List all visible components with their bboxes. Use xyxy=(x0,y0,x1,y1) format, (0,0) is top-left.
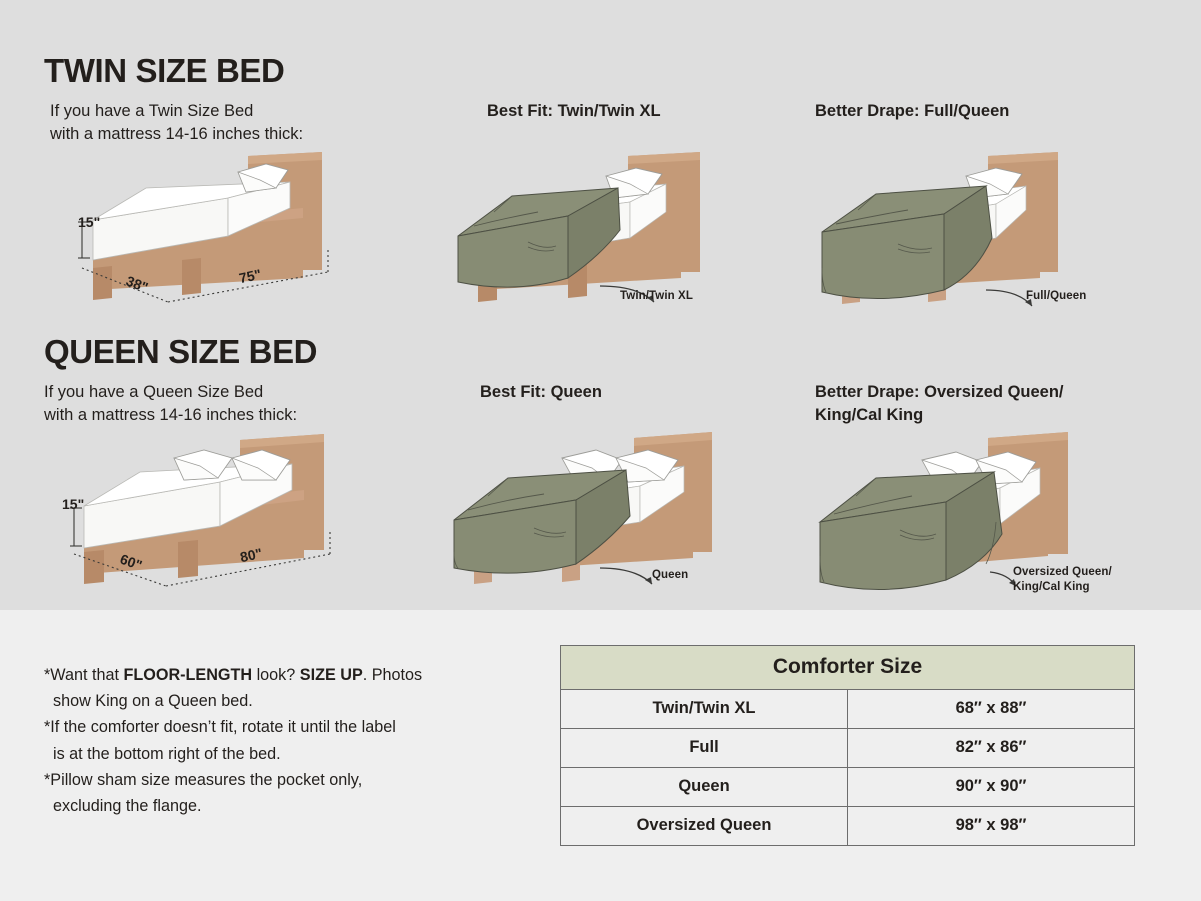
infographic-page: TWIN SIZE BED If you have a Twin Size Be… xyxy=(0,0,1201,901)
bed-illustration-queen-plain xyxy=(48,432,348,592)
footnote-line: *Want that FLOOR-LENGTH look? SIZE UP. P… xyxy=(44,662,544,688)
table-cell-size-name: Oversized Queen xyxy=(561,807,848,846)
section-subtitle-twin: If you have a Twin Size Bed with a mattr… xyxy=(50,100,303,147)
dimension-label-twin-height: 15" xyxy=(78,214,100,230)
footnote-line: is at the bottom right of the bed. xyxy=(44,741,544,767)
footnote-line: *If the comforter doesn’t fit, rotate it… xyxy=(44,714,544,740)
callout-queen-better-drape: Oversized Queen/ King/Cal King xyxy=(1013,565,1112,595)
section-title-twin: TWIN SIZE BED xyxy=(44,52,284,90)
section-title-queen: QUEEN SIZE BED xyxy=(44,333,317,371)
table-cell-size-name: Twin/Twin XL xyxy=(561,690,848,729)
dimension-label-queen-height: 15" xyxy=(62,496,84,512)
footnote-line: excluding the flange. xyxy=(44,793,544,819)
bed-illustration-twin-best-fit xyxy=(450,150,740,310)
bed-illustration-queen-best-fit xyxy=(450,430,750,595)
table-row: Oversized Queen98″ x 98″ xyxy=(561,807,1135,846)
table-row: Queen90″ x 90″ xyxy=(561,768,1135,807)
column-title-queen-better-drape: Better Drape: Oversized Queen/ King/Cal … xyxy=(815,381,1064,428)
comforter-size-table: Comforter Size Twin/Twin XL68″ x 88″Full… xyxy=(560,645,1135,846)
footnote-line: show King on a Queen bed. xyxy=(44,688,544,714)
footnote-line: *Pillow sham size measures the pocket on… xyxy=(44,767,544,793)
table-body: Twin/Twin XL68″ x 88″Full82″ x 86″Queen9… xyxy=(561,690,1135,846)
table-cell-dimensions: 68″ x 88″ xyxy=(848,690,1135,729)
callout-twin-best-fit: Twin/Twin XL xyxy=(620,289,693,304)
table-header-title: Comforter Size xyxy=(561,646,1135,690)
table-row: Twin/Twin XL68″ x 88″ xyxy=(561,690,1135,729)
section-subtitle-queen: If you have a Queen Size Bed with a matt… xyxy=(44,381,297,428)
callout-twin-better-drape: Full/Queen xyxy=(1026,289,1086,304)
table-cell-dimensions: 82″ x 86″ xyxy=(848,729,1135,768)
table-header-row: Comforter Size xyxy=(561,646,1135,690)
table-row: Full82″ x 86″ xyxy=(561,729,1135,768)
table-cell-size-name: Full xyxy=(561,729,848,768)
table-cell-size-name: Queen xyxy=(561,768,848,807)
callout-queen-best-fit: Queen xyxy=(652,568,688,583)
bed-illustration-twin-plain xyxy=(60,150,350,310)
column-title-queen-best-fit: Best Fit: Queen xyxy=(480,381,602,404)
table-cell-dimensions: 90″ x 90″ xyxy=(848,768,1135,807)
column-title-twin-best-fit: Best Fit: Twin/Twin XL xyxy=(487,100,661,123)
column-title-twin-better-drape: Better Drape: Full/Queen xyxy=(815,100,1009,123)
footnotes: *Want that FLOOR-LENGTH look? SIZE UP. P… xyxy=(44,662,544,819)
table-cell-dimensions: 98″ x 98″ xyxy=(848,807,1135,846)
